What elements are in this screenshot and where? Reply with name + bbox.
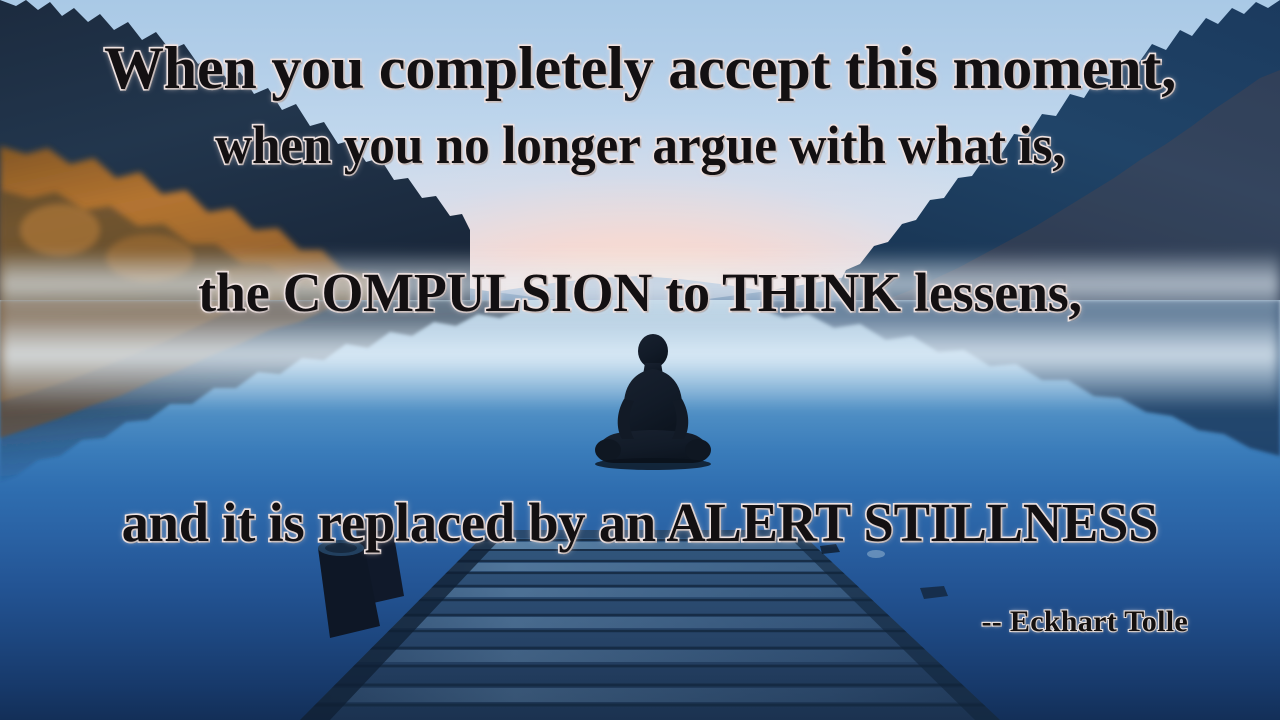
quote-line-2-text: when you no longer argue with what is,: [215, 118, 1065, 172]
quote-line-3: the COMPULSION to THINK lessens,: [13, 265, 1267, 320]
quote-line-2: when you no longer argue with what is,: [32, 118, 1248, 172]
quote-text-overlay: When you completely accept this moment, …: [0, 0, 1280, 720]
quote-line-1-text: When you completely accept this moment,: [104, 38, 1176, 98]
quote-line-1: When you completely accept this moment,: [0, 38, 1280, 98]
quote-line-3-text: the COMPULSION to THINK lessens,: [198, 265, 1082, 320]
quote-attribution: -- Eckhart Tolle: [0, 605, 1188, 639]
quote-line-4-text: and it is replaced by an ALERT STILLNESS: [122, 495, 1159, 550]
quote-image: When you completely accept this moment, …: [0, 0, 1280, 720]
quote-line-4: and it is replaced by an ALERT STILLNESS: [6, 495, 1273, 550]
